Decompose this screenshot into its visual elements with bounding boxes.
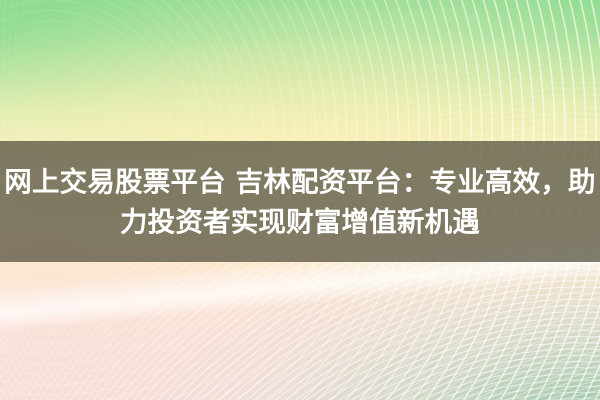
page-title-line-2: 力投资者实现财富增值新机遇 <box>120 202 480 242</box>
banner-image: 网上交易股票平台 吉林配资平台：专业高效，助 力投资者实现财富增值新机遇 <box>0 0 600 400</box>
title-banner: 网上交易股票平台 吉林配资平台：专业高效，助 力投资者实现财富增值新机遇 <box>0 141 600 262</box>
page-title-line-1: 网上交易股票平台 吉林配资平台：专业高效，助 <box>4 162 595 202</box>
